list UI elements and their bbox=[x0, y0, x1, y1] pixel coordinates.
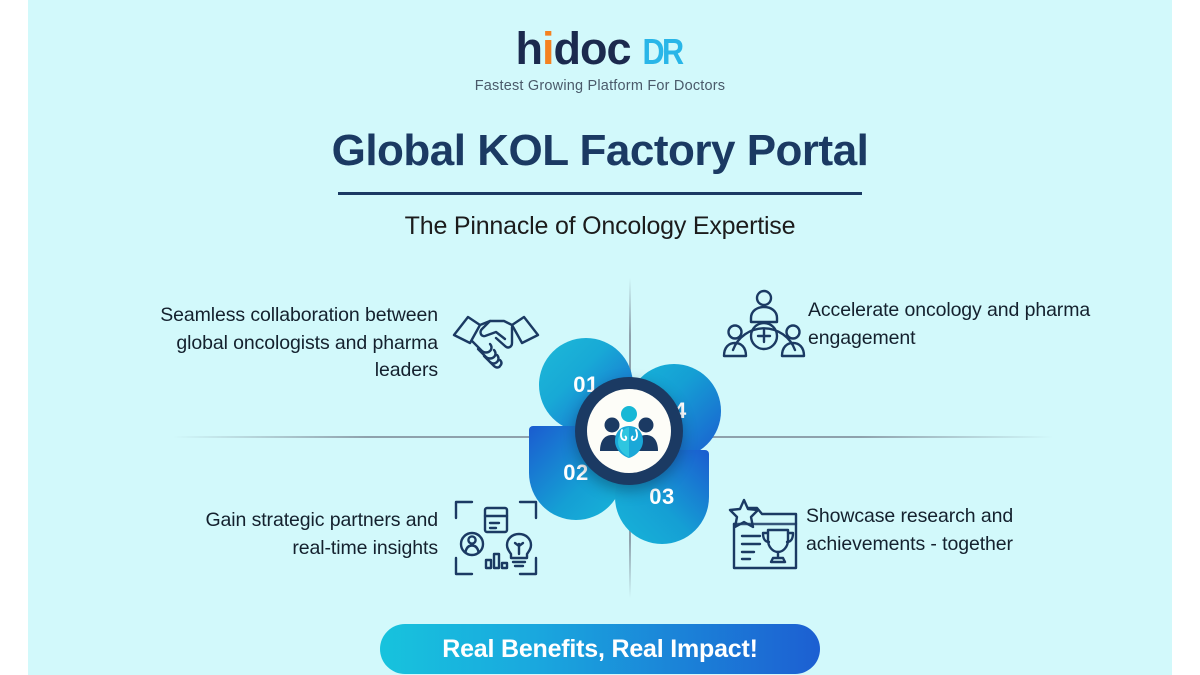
people-group-icon bbox=[587, 389, 671, 473]
quadrant-label-04: Accelerate oncology and pharma engagemen… bbox=[808, 297, 1108, 352]
logo-letters-doc: doc bbox=[554, 23, 631, 74]
title-divider-rule bbox=[338, 192, 862, 195]
logo-letter-i: i bbox=[542, 23, 554, 74]
page-subtitle: The Pinnacle of Oncology Expertise bbox=[28, 212, 1172, 241]
quadrant-label-02: Gain strategic partners and real-time in… bbox=[168, 507, 438, 562]
logo-wordmark: hidoc bbox=[515, 26, 630, 71]
page-title: Global KOL Factory Portal bbox=[28, 126, 1172, 176]
logo-letter-h: h bbox=[515, 23, 542, 74]
pinwheel-hub bbox=[575, 377, 683, 485]
infographic-canvas: hidocDR Fastest Growing Platform For Doc… bbox=[28, 0, 1172, 675]
quadrant-label-01: Seamless collaboration between global on… bbox=[138, 302, 438, 385]
brand-logo: hidocDR Fastest Growing Platform For Doc… bbox=[28, 26, 1172, 94]
brand-tagline: Fastest Growing Platform For Doctors bbox=[28, 78, 1172, 94]
cta-button[interactable]: Real Benefits, Real Impact! bbox=[380, 624, 820, 674]
quadrant-label-03: Showcase research and achievements - tog… bbox=[806, 503, 1076, 558]
pinwheel-graphic: 01 04 02 03 bbox=[515, 316, 745, 546]
logo-suffix-dr: DR bbox=[642, 31, 681, 73]
